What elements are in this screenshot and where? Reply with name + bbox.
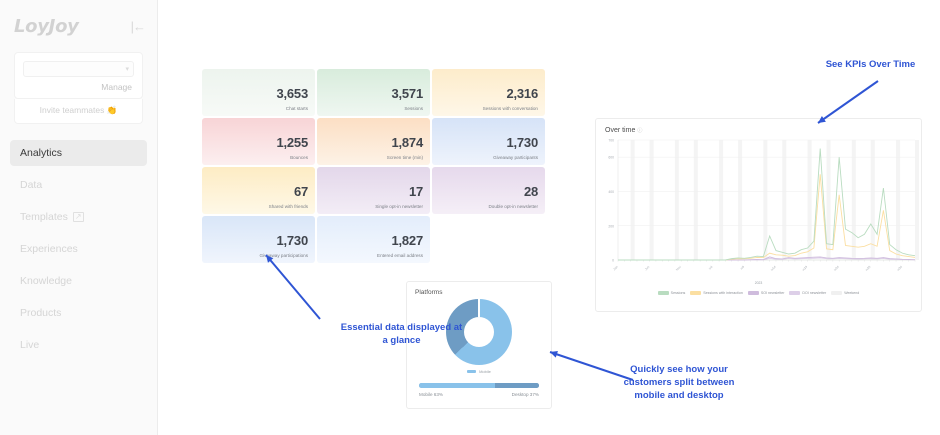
platforms-title: Platforms (407, 282, 551, 296)
kpi-value: 3,653 (276, 86, 308, 101)
main-content: 3,653Chat starts3,571Sessions2,316Sessio… (158, 0, 940, 435)
x-axis-tick-label: Jan (612, 265, 619, 272)
weekend-band (650, 140, 654, 260)
chart-legend-item[interactable]: Weekend (831, 291, 859, 295)
kpi-card[interactable]: 3,653Chat starts (202, 69, 315, 116)
sidebar: LoyJoy |← ▾ Manage Invite teammates 👏 An… (0, 0, 158, 435)
x-axis-tick-label: w14 (770, 265, 777, 272)
manage-link[interactable]: Manage (23, 77, 134, 98)
arrow-line (550, 352, 633, 380)
sidebar-item-analytics[interactable]: Analytics (10, 140, 147, 166)
external-link-icon: ↗ (73, 212, 84, 222)
chart-legend-label: SOI newsletter (761, 291, 785, 295)
arrow-head (550, 351, 558, 358)
kpi-value: 2,316 (506, 86, 538, 101)
kpi-grid: 3,653Chat starts3,571Sessions2,316Sessio… (202, 69, 547, 265)
kpi-label: Screen time (min) (387, 155, 423, 160)
sidebar-item-data[interactable]: Data (10, 172, 147, 198)
x-axis-tick-label: Nov (675, 265, 682, 272)
y-axis-tick-label: 400 (608, 190, 614, 194)
x-axis-caption: 2023 (596, 281, 921, 285)
y-axis-tick-label: 700 (608, 139, 614, 143)
legend-label-mobile: Mobile (479, 369, 491, 374)
kpi-value: 28 (524, 184, 538, 199)
donut-legend: Mobile (407, 369, 551, 374)
kpi-card[interactable]: 2,316Sessions with conversation (432, 69, 545, 116)
invite-teammates-button[interactable]: Invite teammates 👏 (14, 99, 143, 124)
info-icon[interactable]: ⓘ (637, 127, 642, 134)
kpi-value: 3,571 (391, 86, 423, 101)
donut-gap (478, 299, 480, 317)
kpi-label: Single opt-in newsletter (375, 204, 423, 209)
sidebar-item-products[interactable]: Products (10, 300, 147, 326)
kpi-row: 1,255Bounces1,874Screen time (min)1,730G… (202, 118, 547, 167)
chart-legend: SessionsSessions with interactionSOI new… (596, 291, 921, 295)
split-bar-desktop (495, 383, 539, 388)
sidebar-header: LoyJoy |← (0, 0, 157, 52)
kpi-label: Sessions with conversation (483, 106, 538, 111)
kpi-card[interactable]: 3,571Sessions (317, 69, 430, 116)
chart-legend-swatch (658, 291, 669, 295)
weekend-band (719, 140, 723, 260)
sidebar-item-templates[interactable]: Templates↗ (10, 204, 147, 230)
kpi-label: Giveaway participants (493, 155, 538, 160)
organization-select[interactable]: ▾ (23, 61, 134, 77)
chart-legend-label: DOI newsletter (802, 291, 826, 295)
y-axis-tick-label: 200 (608, 224, 614, 228)
kpi-card[interactable]: 1,255Bounces (202, 118, 315, 165)
kpi-value: 1,874 (391, 135, 423, 150)
sidebar-item-label: Products (20, 307, 61, 319)
kpi-card[interactable]: 17Single opt-in newsletter (317, 167, 430, 214)
organization-card: ▾ Manage (14, 52, 143, 99)
x-axis-tick-label: Jun (644, 265, 651, 272)
kpi-row: 3,653Chat starts3,571Sessions2,316Sessio… (202, 69, 547, 118)
chart-legend-label: Sessions (671, 291, 686, 295)
kpi-value: 17 (409, 184, 423, 199)
platform-split-labels: Mobile 63% Desktop 37% (419, 392, 539, 397)
over-time-title-text: Over time (605, 127, 635, 134)
chevron-down-icon: ▾ (125, 65, 129, 73)
chart-legend-item[interactable]: SOI newsletter (748, 291, 785, 295)
kpi-card[interactable]: 1,730Giveaway participants (432, 118, 545, 165)
annotation-essential-data: Essential data displayed at a glance (339, 321, 464, 347)
x-axis-tick-label: w4 (708, 265, 714, 271)
kpi-value: 1,827 (391, 233, 423, 248)
weekend-band (738, 140, 742, 260)
sidebar-item-label: Experiences (20, 243, 78, 255)
kpi-label: Shared with friends (269, 204, 308, 209)
kpi-value: 67 (294, 184, 308, 199)
x-axis-tick-label: w19 (801, 265, 808, 272)
chart-legend-swatch (690, 291, 701, 295)
kpi-label: Double opt-in newsletter (488, 204, 538, 209)
kpi-card[interactable]: 28Double opt-in newsletter (432, 167, 545, 214)
annotation-arrow-kpi (248, 243, 368, 323)
chart-legend-label: Sessions with interaction (703, 291, 743, 295)
x-axis-tick-label: w34 (896, 265, 903, 272)
legend-swatch-mobile (467, 370, 476, 373)
weekend-band (782, 140, 786, 260)
chart-legend-item[interactable]: Sessions (658, 291, 686, 295)
annotation-arrow-overtime (808, 75, 918, 165)
weekend-band (631, 140, 635, 260)
weekend-band (763, 140, 767, 260)
kpi-card[interactable]: 1,874Screen time (min) (317, 118, 430, 165)
kpi-label: Sessions (404, 106, 423, 111)
mobile-share-label: Mobile 63% (419, 392, 443, 397)
sidebar-item-experiences[interactable]: Experiences (10, 236, 147, 262)
sidebar-item-live[interactable]: Live (10, 332, 147, 358)
sidebar-item-label: Templates (20, 211, 68, 223)
kpi-row: 67Shared with friends17Single opt-in new… (202, 167, 547, 216)
platform-split-bar (419, 383, 539, 388)
chart-legend-swatch (831, 291, 842, 295)
chart-legend-swatch (748, 291, 759, 295)
sidebar-item-label: Knowledge (20, 275, 72, 287)
sidebar-item-knowledge[interactable]: Knowledge (10, 268, 147, 294)
kpi-label: Entered email address (377, 253, 423, 258)
arrow-line (266, 255, 320, 319)
sidebar-item-label: Live (20, 339, 39, 351)
x-axis-tick-label: w9 (739, 265, 745, 271)
chart-legend-swatch (789, 291, 800, 295)
brand-logo: LoyJoy (14, 16, 79, 37)
x-axis-tick-label: w24 (833, 265, 840, 272)
sidebar-item-label: Analytics (20, 147, 62, 159)
kpi-label: Chat starts (286, 106, 308, 111)
weekend-band (694, 140, 698, 260)
annotation-arrow-donut (538, 330, 648, 400)
y-axis-tick-label: 600 (608, 156, 614, 160)
kpi-value: 1,255 (276, 135, 308, 150)
chart-legend-item[interactable]: DOI newsletter (789, 291, 826, 295)
collapse-sidebar-icon[interactable]: |← (131, 20, 145, 33)
arrow-line (818, 81, 878, 123)
desktop-share-label: Desktop 37% (512, 392, 539, 397)
kpi-label: Bounces (290, 155, 308, 160)
annotation-kpis-over-time: See KPIs Over Time (803, 58, 938, 71)
y-axis-tick-label: 0 (612, 259, 614, 263)
chart-legend-item[interactable]: Sessions with interaction (690, 291, 743, 295)
split-bar-mobile (419, 383, 495, 388)
kpi-value: 1,730 (506, 135, 538, 150)
sidebar-nav: AnalyticsDataTemplates↗ExperiencesKnowle… (0, 140, 157, 358)
x-axis-tick-label: w29 (865, 265, 872, 272)
chart-legend-label: Weekend (844, 291, 859, 295)
sidebar-item-label: Data (20, 179, 42, 191)
weekend-band (675, 140, 679, 260)
kpi-card[interactable]: 67Shared with friends (202, 167, 315, 214)
